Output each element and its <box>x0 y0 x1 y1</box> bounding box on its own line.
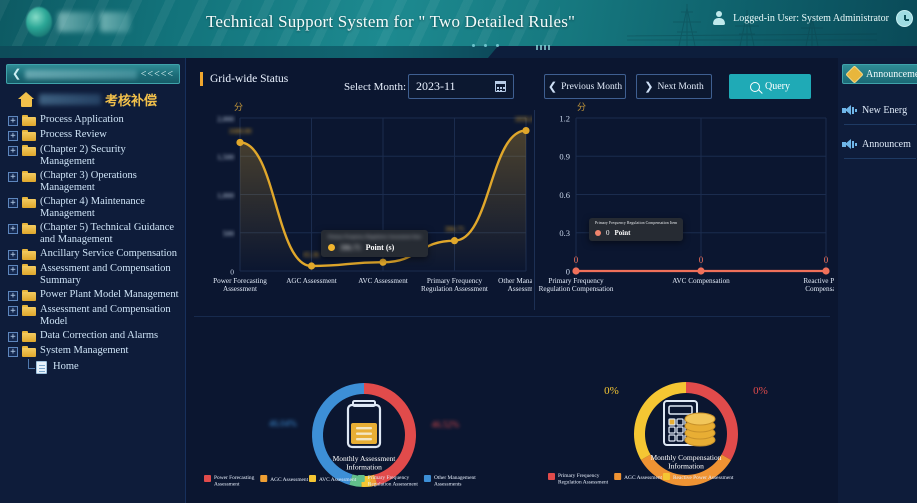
legend-item[interactable]: Primary FrequencyRegulation Assessment <box>548 473 609 485</box>
folder-icon <box>22 130 36 141</box>
expand-toggle-icon[interactable]: + <box>8 306 18 316</box>
x-axis-label: AVC Assessment <box>358 277 408 285</box>
sidebar-item-label: Process Application <box>40 114 124 126</box>
month-picker[interactable]: 2023-11 <box>408 74 514 99</box>
sidebar-item-chapter-5-technical-guidance-and-managem[interactable]: +(Chapter 5) Technical Guidance and Mana… <box>0 221 186 247</box>
legend-label: AVC Assessment <box>319 477 357 483</box>
legend-swatch <box>424 475 431 482</box>
legend-item[interactable]: AVC Assessment <box>309 475 357 483</box>
x-axis-label: Power ForecastingAssessment <box>213 277 267 293</box>
folder-icon <box>22 331 36 342</box>
person-icon <box>711 11 726 26</box>
x-axis-label: Primary FrequencyRegulation Compensation <box>539 277 614 293</box>
logged-in-user-label: Logged-in User: System Administrator <box>733 13 889 24</box>
left-chart-unit: 分 <box>234 100 243 113</box>
x-axis-label: Reactive PowerCompensation <box>803 277 834 293</box>
sidebar-item-chapter-4-maintenance-management[interactable]: +(Chapter 4) Maintenance Management <box>0 195 186 221</box>
expand-toggle-icon[interactable]: + <box>8 347 18 357</box>
home-icon <box>18 92 35 107</box>
sidebar-item-label: Home <box>53 361 79 373</box>
donut-value-label: 0% <box>753 385 768 397</box>
header-underbar-dark <box>488 46 917 58</box>
app-root: Technical Support System for " Two Detai… <box>0 0 917 503</box>
x-axis-label: Other ManagementAssessments <box>498 277 532 293</box>
expand-toggle-icon[interactable]: + <box>8 224 18 234</box>
sidebar-item-label: Power Plant Model Management <box>40 289 179 301</box>
search-icon <box>750 82 760 92</box>
logo-wordmark-masked-2 <box>100 12 130 32</box>
calculator-coins-icon <box>664 401 715 446</box>
sidebar-collapse-button[interactable]: ❮ <<<<< <box>6 64 180 84</box>
previous-month-button[interactable]: ❮ Previous Month <box>544 74 626 99</box>
header-user-area: Logged-in User: System Administrator <box>711 10 913 27</box>
y-axis-tick: 1.2 <box>559 113 570 123</box>
speaker-icon <box>842 105 855 116</box>
query-label: Query <box>765 81 790 92</box>
sidebar-item-label: Process Review <box>40 129 107 141</box>
sidebar-item-process-application[interactable]: +Process Application <box>0 113 186 128</box>
right-chart-unit: 分 <box>577 100 586 113</box>
donut-center-title: Monthly AssessmentInformation <box>333 454 397 472</box>
announcement-header-label: Announcement <box>866 69 917 80</box>
expand-toggle-icon[interactable]: + <box>8 172 18 182</box>
legend-label: Other ManagementAssessments <box>434 475 476 487</box>
tree-elbow <box>28 359 35 369</box>
tooltip-unit: Point (s) <box>366 243 395 252</box>
sidebar-item-label: (Chapter 2) Security Management <box>40 144 183 168</box>
expand-toggle-icon[interactable]: + <box>8 291 18 301</box>
y-axis-tick: 0.9 <box>559 152 570 162</box>
data-point-label: 396.75 <box>445 226 465 234</box>
legend-item[interactable]: Reactive Power Assessment <box>663 473 734 481</box>
legend-label: Primary FrequencyRegulation Assessment <box>368 475 419 487</box>
tooltip-row: 0 Point <box>595 229 677 237</box>
panel-title-label: Grid-wide Status <box>210 73 288 85</box>
sidebar-item-ancillary-service-compensation[interactable]: +Ancillary Service Compensation <box>0 247 186 262</box>
sidebar-tree-root[interactable]: 考核补偿 <box>0 88 186 113</box>
left-chart-tooltip: Primary Frequency Regulation Assessment … <box>321 230 428 257</box>
sidebar-item-label: Assessment and Compensation Model <box>40 304 183 328</box>
legend-item[interactable]: AGC Assessment <box>260 475 308 483</box>
chevron-right-icon: ❯ <box>644 80 653 93</box>
data-point-label: 0 <box>699 255 704 265</box>
sidebar-item-power-plant-model-management[interactable]: +Power Plant Model Management <box>0 288 186 303</box>
donut-value-label: 0% <box>604 385 619 397</box>
data-point-label: 65.36 <box>304 251 320 259</box>
x-axis-label: AGC Assessment <box>286 277 337 285</box>
root-label-masked <box>39 94 101 105</box>
speaker-icon <box>842 139 855 150</box>
legend-swatch <box>358 475 365 482</box>
legend-swatch <box>204 475 211 482</box>
folder-icon <box>22 346 36 357</box>
sidebar-item-assessment-and-compensation-summary[interactable]: +Assessment and Compensation Summary <box>0 262 186 288</box>
month-value: 2023-11 <box>416 79 495 94</box>
donut-value-label: 46.52% <box>431 419 459 429</box>
legend-swatch <box>260 475 267 482</box>
sidebar-item-chapter-3-operations-management[interactable]: +(Chapter 3) Operations Management <box>0 169 186 195</box>
announcement-label: Announcem <box>862 139 911 150</box>
tooltip-marker-icon <box>595 230 601 236</box>
chevron-left-icon: ❮ <box>12 69 21 80</box>
folder-icon <box>22 197 36 208</box>
folder-icon <box>22 290 36 301</box>
monthly-assessment-donut: 46.52%1.81%3.18%3.79%46.04%Monthly Asses… <box>192 320 532 503</box>
sidebar-collapse-chevrons: <<<<< <box>141 69 174 80</box>
legend-item[interactable]: Power ForecastingAssessment <box>204 475 255 487</box>
sidebar-item-label: (Chapter 3) Operations Management <box>40 170 183 194</box>
tooltip-title: Primary Frequency Regulation Compensatio… <box>595 221 677 225</box>
speaker-waves <box>852 140 856 149</box>
chevron-left-icon: ❮ <box>548 80 557 93</box>
tooltip-title: Primary Frequency Regulation Assessment … <box>328 234 421 239</box>
sidebar-item-label: Data Correction and Alarms <box>40 330 158 342</box>
expand-toggle-icon[interactable]: + <box>8 146 18 156</box>
data-point[interactable] <box>451 237 458 244</box>
legend-item[interactable]: AGC Assessment <box>614 473 662 481</box>
y-axis-tick: 1,000 <box>217 191 234 200</box>
battery-icon <box>348 401 380 447</box>
legend-label: Power ForecastingAssessment <box>214 475 255 487</box>
panel-title: Grid-wide Status <box>200 72 288 86</box>
expand-toggle-icon[interactable]: + <box>8 250 18 260</box>
expand-toggle-icon[interactable]: + <box>8 116 18 126</box>
root-label: 考核补偿 <box>105 90 157 109</box>
tooltip-value: 0 <box>606 229 610 237</box>
data-point-label: 1680.00 <box>229 127 252 135</box>
x-axis-label: AVC Compensation <box>672 277 730 285</box>
data-point[interactable] <box>379 259 386 266</box>
sidebar-item-label: Assessment and Compensation Summary <box>40 263 183 287</box>
announcement-item[interactable]: New Energ <box>842 94 917 126</box>
y-axis-tick: 500 <box>223 229 235 238</box>
folder-icon <box>22 264 36 275</box>
announcement-item[interactable]: Announcem <box>842 128 917 160</box>
status-toolbar: Grid-wide Status Select Month: 2023-11 ❮… <box>186 58 838 102</box>
app-logo <box>26 5 176 39</box>
announcement-divider <box>844 158 916 159</box>
monthly-compensation-donut: 0%0%0%Monthly CompensationInformationPri… <box>538 320 834 503</box>
assessment-line-chart: 分 05001,0001,5002,0001680.0065.36115.003… <box>192 102 532 317</box>
sidebar-item-label: Ancillary Service Compensation <box>40 248 177 260</box>
sidebar-item-assessment-and-compensation-model[interactable]: +Assessment and Compensation Model <box>0 303 186 329</box>
vertical-divider <box>534 110 535 310</box>
y-axis-tick: 0 <box>566 266 570 276</box>
sidebar-item-home[interactable]: Home <box>0 359 186 375</box>
clock-icon[interactable] <box>896 10 913 27</box>
next-month-button[interactable]: ❯ Next Month <box>636 74 712 99</box>
legend-item[interactable]: Other ManagementAssessments <box>424 475 476 487</box>
folder-icon <box>22 171 36 182</box>
header-bars-decoration <box>536 45 550 50</box>
announcement-panel: Announcement New Energ Announcem <box>838 58 917 503</box>
sidebar-item-label: (Chapter 4) Maintenance Management <box>40 196 183 220</box>
data-point[interactable] <box>572 267 579 274</box>
expand-toggle-icon[interactable]: + <box>8 265 18 275</box>
sidebar-item-label: System Management <box>40 345 128 357</box>
y-axis-tick: 0.3 <box>559 228 570 238</box>
sidebar-item-chapter-2-security-management[interactable]: +(Chapter 2) Security Management <box>0 143 186 169</box>
sidebar-title-masked <box>25 70 137 79</box>
sidebar-tree: 考核补偿 +Process Application+Process Review… <box>0 88 186 375</box>
header-dots-decoration <box>472 44 499 47</box>
x-axis-label: Primary FrequencyRegulation Assessment <box>421 277 488 293</box>
expand-toggle-icon[interactable]: + <box>8 131 18 141</box>
speaker-waves <box>852 106 856 115</box>
data-point-label: 1836.00 <box>515 116 532 124</box>
data-point[interactable] <box>236 139 243 146</box>
legend-label: AGC Assessment <box>270 477 308 483</box>
announcement-label: New Energ <box>862 105 907 116</box>
legend-swatch <box>614 473 621 480</box>
data-point[interactable] <box>308 262 315 269</box>
title-accent-bar <box>200 72 203 86</box>
data-point[interactable] <box>697 267 704 274</box>
previous-month-label: Previous Month <box>561 82 622 92</box>
sidebar-tree-items: +Process Application+Process Review+(Cha… <box>0 113 186 375</box>
announcement-header: Announcement <box>842 64 917 84</box>
donut-slice[interactable] <box>634 382 686 460</box>
calendar-icon[interactable] <box>495 81 506 92</box>
main-content: Grid-wide Status Select Month: 2023-11 ❮… <box>186 58 838 503</box>
select-month-label: Select Month: <box>344 81 406 93</box>
tooltip-row: 396.75 Point (s) <box>328 243 421 252</box>
logo-wordmark-masked <box>58 12 94 32</box>
tooltip-value: 396.75 <box>340 243 361 252</box>
sidebar-item-data-correction-and-alarms[interactable]: +Data Correction and Alarms <box>0 329 186 344</box>
folder-icon <box>22 145 36 156</box>
compensation-line-chart: 分 00.30.60.91.2000Primary FrequencyRegul… <box>538 102 834 317</box>
folder-icon <box>22 305 36 316</box>
legend-label: Reactive Power Assessment <box>673 475 734 481</box>
sidebar-item-process-review[interactable]: +Process Review <box>0 128 186 143</box>
legend-label: Primary FrequencyRegulation Assessment <box>558 473 609 485</box>
page-title: Technical Support System for " Two Detai… <box>206 12 575 32</box>
legend-swatch <box>309 475 316 482</box>
folder-icon <box>22 223 36 234</box>
data-point[interactable] <box>522 127 529 134</box>
sidebar-item-system-management[interactable]: +System Management <box>0 344 186 359</box>
logo-orb-icon <box>26 7 52 37</box>
data-point-label: 0 <box>574 255 579 265</box>
y-axis-tick: 2,000 <box>217 114 234 123</box>
folder-icon <box>22 115 36 126</box>
tooltip-unit: Point <box>615 229 631 237</box>
data-point-label: 0 <box>824 255 829 265</box>
expand-toggle-icon[interactable]: + <box>8 198 18 208</box>
legend-label: AGC Assessment <box>624 475 662 481</box>
file-icon <box>36 361 47 374</box>
legend-item[interactable]: Primary FrequencyRegulation Assessment <box>358 475 419 487</box>
donut-value-label: 46.04% <box>269 418 297 428</box>
data-point[interactable] <box>822 267 829 274</box>
announcement-divider <box>844 124 916 125</box>
y-axis-tick: 1,500 <box>217 153 234 162</box>
next-month-label: Next Month <box>658 82 704 92</box>
app-header: Technical Support System for " Two Detai… <box>0 0 917 46</box>
legend-swatch <box>548 473 555 480</box>
right-chart-tooltip: Primary Frequency Regulation Compensatio… <box>589 218 683 241</box>
sidebar-item-label: (Chapter 5) Technical Guidance and Manag… <box>40 222 183 246</box>
legend-swatch <box>663 473 670 480</box>
y-axis-tick: 0 <box>230 267 234 276</box>
sidebar: ❮ <<<<< 考核补偿 +Process Application+Proces… <box>0 58 186 503</box>
y-axis-tick: 0.6 <box>559 190 570 200</box>
folder-icon <box>22 249 36 260</box>
diamond-icon <box>845 65 863 83</box>
tooltip-marker-icon <box>328 244 335 251</box>
query-button[interactable]: Query <box>729 74 811 99</box>
expand-toggle-icon[interactable]: + <box>8 332 18 342</box>
